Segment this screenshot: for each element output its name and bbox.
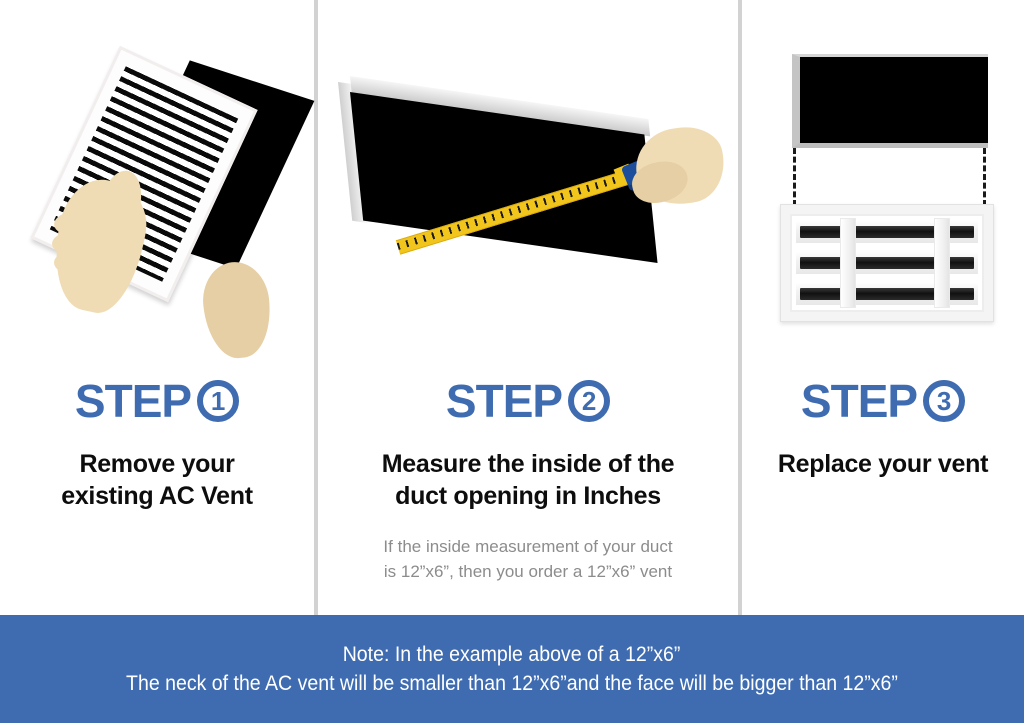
step-2-description-line-1: Measure the inside of the bbox=[318, 448, 738, 480]
vent-replacement-scene bbox=[780, 54, 994, 324]
step-2-note-line-2: is 12”x6”, then you order a 12”x6” vent bbox=[318, 560, 738, 585]
step-2-number-badge: 2 bbox=[568, 380, 610, 422]
step-3-description-line-1: Replace your vent bbox=[742, 448, 1024, 480]
step-column-3: STEP 3 Replace your vent bbox=[742, 0, 1024, 615]
duct-opening-dark bbox=[792, 54, 988, 148]
vent-grille-inner bbox=[790, 214, 984, 312]
right-hand bbox=[199, 259, 275, 361]
step-3-description: Replace your vent bbox=[742, 448, 1024, 480]
step-3-heading: STEP 3 bbox=[742, 378, 1024, 424]
louver-row-2 bbox=[796, 252, 978, 274]
step-2-word: STEP bbox=[446, 378, 562, 424]
step-2-illustration bbox=[318, 0, 738, 370]
step-2-note-line-1: If the inside measurement of your duct bbox=[318, 535, 738, 560]
vent-removal-scene bbox=[52, 62, 302, 312]
step-1-description: Remove your existing AC Vent bbox=[0, 448, 314, 512]
alignment-dash-left bbox=[793, 148, 796, 206]
replacement-vent-grille bbox=[780, 204, 994, 322]
step-2-note: If the inside measurement of your duct i… bbox=[318, 535, 738, 584]
note-banner: Note: In the example above of a 12”x6” T… bbox=[0, 615, 1024, 723]
louver-row-3 bbox=[796, 283, 978, 305]
step-1-number-badge: 1 bbox=[197, 380, 239, 422]
alignment-dash-right bbox=[983, 148, 986, 206]
step-column-1: STEP 1 Remove your existing AC Vent bbox=[0, 0, 314, 615]
step-3-number-badge: 3 bbox=[923, 380, 965, 422]
louver-row-1 bbox=[796, 221, 978, 243]
vent-vertical-divider-2 bbox=[934, 218, 950, 308]
step-1-word: STEP bbox=[75, 378, 191, 424]
vent-vertical-divider-1 bbox=[840, 218, 856, 308]
note-banner-line-2: The neck of the AC vent will be smaller … bbox=[126, 670, 898, 697]
step-1-illustration bbox=[0, 0, 314, 370]
step-1-description-line-1: Remove your bbox=[0, 448, 314, 480]
duct-measuring-scene bbox=[336, 70, 736, 300]
step-2-heading: STEP 2 bbox=[318, 378, 738, 424]
steps-board: STEP 1 Remove your existing AC Vent bbox=[0, 0, 1024, 615]
step-column-2: STEP 2 Measure the inside of the duct op… bbox=[318, 0, 738, 615]
step-2-description-line-2: duct opening in Inches bbox=[318, 480, 738, 512]
step-1-description-line-2: existing AC Vent bbox=[0, 480, 314, 512]
step-1-heading: STEP 1 bbox=[0, 378, 314, 424]
step-2-description: Measure the inside of the duct opening i… bbox=[318, 448, 738, 512]
step-3-word: STEP bbox=[801, 378, 917, 424]
note-banner-line-1: Note: In the example above of a 12”x6” bbox=[343, 641, 681, 668]
step-3-illustration bbox=[742, 0, 1024, 370]
